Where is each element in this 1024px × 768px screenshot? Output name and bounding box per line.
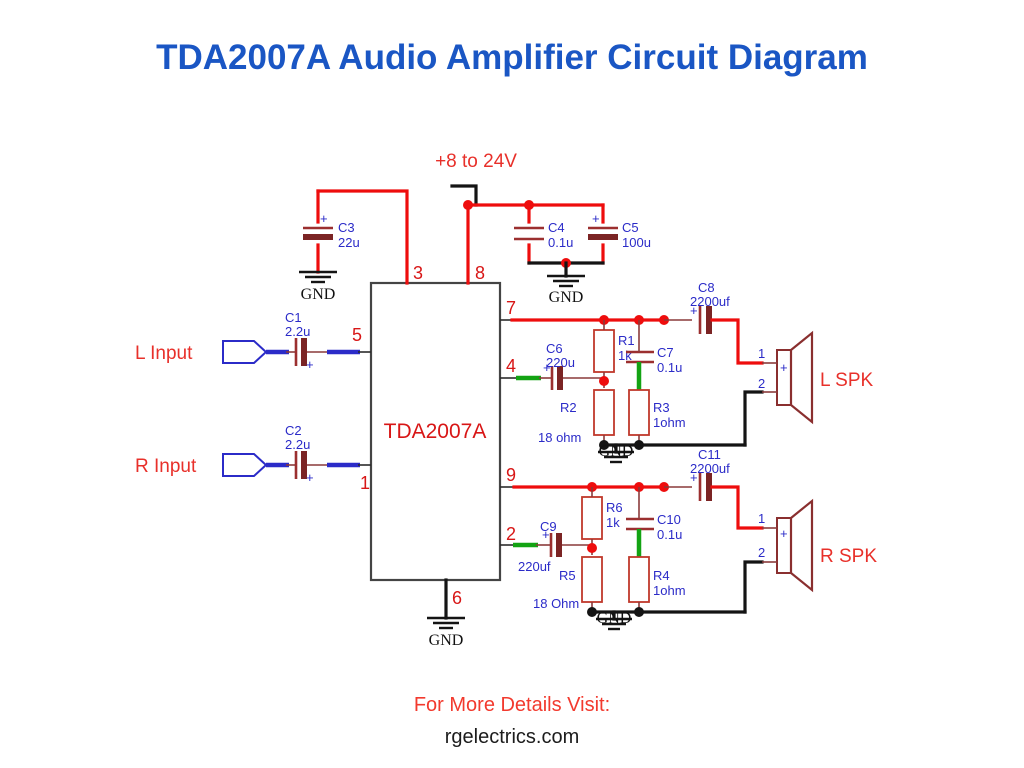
resistor-r3-value: 1ohm xyxy=(653,415,686,430)
capacitor-c10-value: 0.1u xyxy=(657,527,682,542)
junction-dot-right-gnd-b xyxy=(634,607,644,617)
circuit-diagram-page: TDA2007A Audio Amplifier Circuit Diagram… xyxy=(0,0,1024,768)
input-port-right[interactable] xyxy=(223,454,266,476)
capacitor-c4-ref: C4 xyxy=(548,220,565,235)
schematic-canvas: TDA2007A +8 to 24V C4 0.1u + C5 100u xyxy=(0,0,1024,768)
capacitor-c9-ref: C9 xyxy=(540,519,557,534)
footer-cta-text: For More Details Visit: xyxy=(0,694,1024,717)
speaker-right[interactable]: + xyxy=(762,501,812,590)
gnd-label-right-channel: GND xyxy=(597,610,632,627)
speaker-right-terminal-2: 2 xyxy=(758,545,765,560)
capacitor-c2-plus: + xyxy=(306,470,314,485)
wire-lspk-neg-to-gnd xyxy=(745,392,762,445)
capacitor-c3-plus: + xyxy=(320,211,328,226)
input-label-right: R Input xyxy=(135,456,197,477)
capacitor-c10[interactable] xyxy=(626,519,654,529)
junction-dot-left-gnd-b xyxy=(634,440,644,450)
gnd-label-supply: GND xyxy=(549,289,584,306)
speaker-left-terminal-2: 2 xyxy=(758,376,765,391)
pin-label-7: 7 xyxy=(506,298,516,318)
resistor-r5[interactable] xyxy=(582,557,602,602)
speaker-left-terminal-1: 1 xyxy=(758,346,765,361)
resistor-r4[interactable] xyxy=(629,557,649,602)
pin-label-9: 9 xyxy=(506,465,516,485)
capacitor-c9-value: 220uf xyxy=(518,559,551,574)
wire-c11-to-rspk-pos xyxy=(712,487,762,528)
resistor-r2-value: 18 ohm xyxy=(538,430,581,445)
speaker-left-polarity: + xyxy=(780,360,788,375)
pin-label-5: 5 xyxy=(352,325,362,345)
pin-label-4: 4 xyxy=(506,356,516,376)
capacitor-c10-ref: C10 xyxy=(657,512,681,527)
ic-label: TDA2007A xyxy=(384,420,487,443)
capacitor-c6-ref: C6 xyxy=(546,341,563,356)
capacitor-c5-plus: + xyxy=(592,211,600,226)
gnd-label-c3: GND xyxy=(301,286,336,303)
resistor-r6-value: 1k xyxy=(606,515,620,530)
resistor-r1-ref: R1 xyxy=(618,333,635,348)
capacitor-c6-value: 220u xyxy=(546,355,575,370)
gnd-symbol-supply xyxy=(547,263,585,286)
speaker-right-polarity: + xyxy=(780,526,788,541)
capacitor-c2-value: 2.2u xyxy=(285,437,310,452)
resistor-r6-ref: R6 xyxy=(606,500,623,515)
resistor-r3[interactable] xyxy=(629,390,649,435)
capacitor-c8-ref: C8 xyxy=(698,280,715,295)
junction-dot-r1-r2-c6 xyxy=(599,376,609,386)
speaker-left[interactable]: + xyxy=(762,333,812,422)
capacitor-c7-value: 0.1u xyxy=(657,360,682,375)
capacitor-c1-value: 2.2u xyxy=(285,324,310,339)
resistor-r1[interactable] xyxy=(594,330,614,372)
pin-label-6: 6 xyxy=(452,588,462,608)
capacitor-c3-ref: C3 xyxy=(338,220,355,235)
junction-dot-supply xyxy=(463,200,473,210)
capacitor-c4[interactable] xyxy=(514,228,544,239)
resistor-r2[interactable] xyxy=(594,390,614,435)
resistor-r4-ref: R4 xyxy=(653,568,670,583)
resistor-r3-ref: R3 xyxy=(653,400,670,415)
resistor-r2-ref: R2 xyxy=(560,400,577,415)
resistor-r4-value: 1ohm xyxy=(653,583,686,598)
speaker-left-label: L SPK xyxy=(820,370,873,391)
capacitor-c8[interactable] xyxy=(700,306,712,334)
resistor-r6[interactable] xyxy=(582,497,602,539)
resistor-r5-value: 18 Ohm xyxy=(533,596,579,611)
capacitor-c3[interactable] xyxy=(303,228,333,240)
gnd-label-left-channel: GND xyxy=(599,443,634,460)
capacitor-c11[interactable] xyxy=(700,473,712,501)
wire-c8-to-lspk-pos xyxy=(712,320,762,363)
capacitor-c9[interactable] xyxy=(551,533,562,557)
capacitor-c2-ref: C2 xyxy=(285,423,302,438)
resistor-r5-ref: R5 xyxy=(559,568,576,583)
junction-dot-right-gnd-a xyxy=(587,607,597,617)
capacitor-c4-value: 0.1u xyxy=(548,235,573,250)
capacitor-c5-value: 100u xyxy=(622,235,651,250)
pin-label-8: 8 xyxy=(475,263,485,283)
gnd-label-pin6: GND xyxy=(429,632,464,649)
input-label-left: L Input xyxy=(135,343,193,364)
capacitor-c5-ref: C5 xyxy=(622,220,639,235)
capacitor-c1-plus: + xyxy=(306,357,314,372)
speaker-right-terminal-1: 1 xyxy=(758,511,765,526)
input-port-left[interactable] xyxy=(223,341,266,363)
junction-dot-c4-top xyxy=(524,200,534,210)
junction-dot-r6-r5-c9 xyxy=(587,543,597,553)
pin-label-2: 2 xyxy=(506,524,516,544)
capacitor-c11-ref: C11 xyxy=(698,447,721,462)
capacitor-c11-value: 2200uf xyxy=(690,461,730,476)
pin-label-3: 3 xyxy=(413,263,423,283)
capacitor-c7-ref: C7 xyxy=(657,345,674,360)
footer-website-text: rgelectrics.com xyxy=(0,726,1024,749)
wire-rspk-neg-to-gnd xyxy=(745,562,762,612)
speaker-right-label: R SPK xyxy=(820,546,877,567)
supply-label: +8 to 24V xyxy=(435,151,517,172)
pin-label-1: 1 xyxy=(360,473,370,493)
capacitor-c8-value: 2200uf xyxy=(690,294,730,309)
capacitor-c5[interactable] xyxy=(588,228,618,240)
capacitor-c3-value: 22u xyxy=(338,235,360,250)
capacitor-c1-ref: C1 xyxy=(285,310,302,325)
